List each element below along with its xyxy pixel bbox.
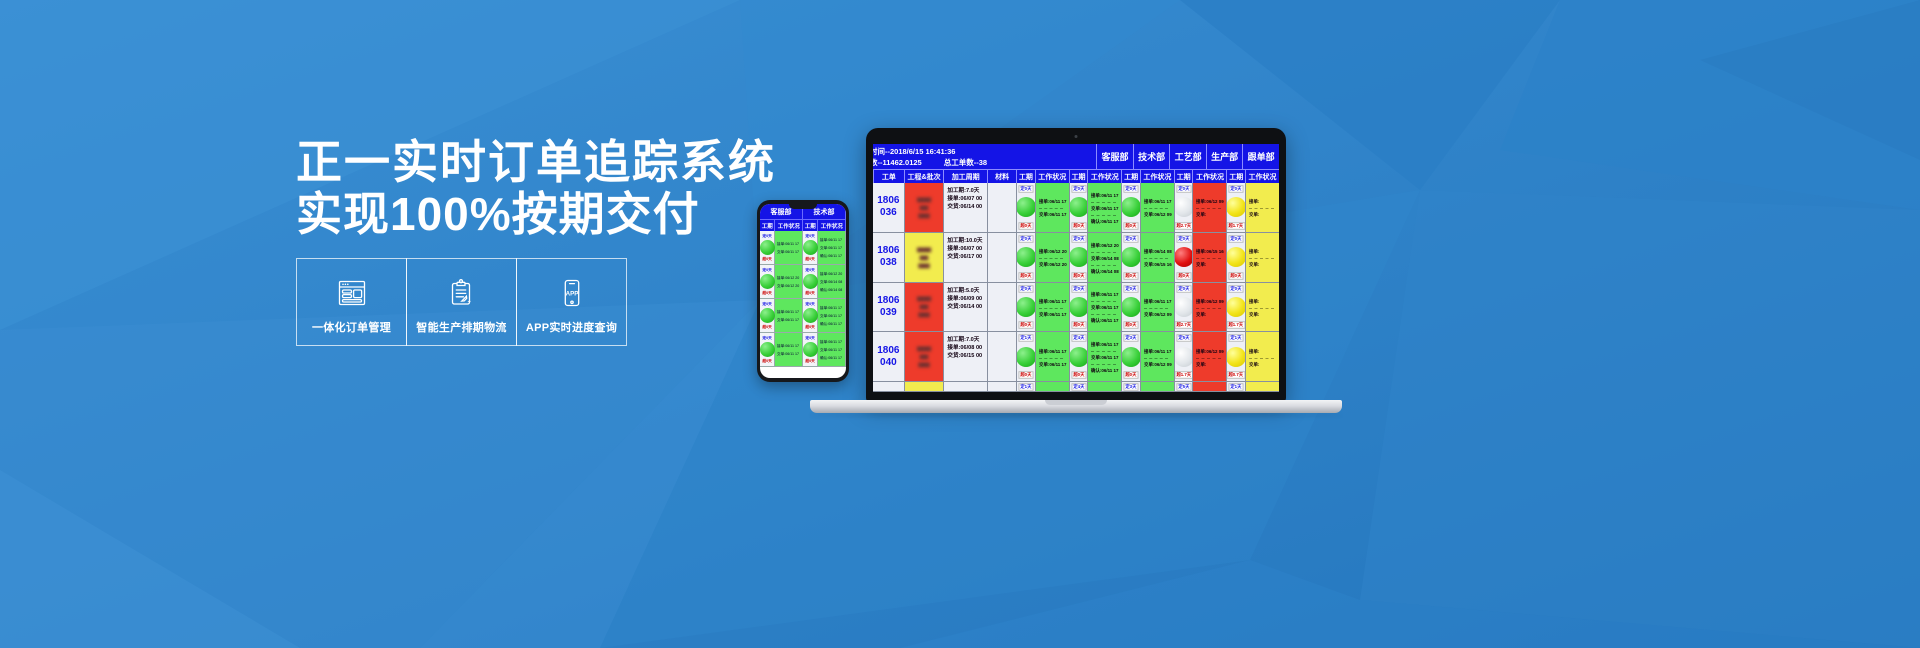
project-batch-text: █████ [917, 296, 931, 301]
dashboard-dept-header-2: 工艺部 [1169, 144, 1206, 169]
feature-card-app-progress-query[interactable]: APP APP实时进度查询 [516, 258, 627, 346]
cycle-line: 加工期:5.0天 [947, 287, 987, 295]
dashboard-top-header: 时间--2018/6/15 16:41:36 数--11462.0125 总工单… [873, 144, 1279, 169]
work-status-cell-跟单部: 接单:交单: [1245, 332, 1279, 381]
phone-row[interactable]: 定0天 超0天 接单:06/11 17交单:06/11 17 定0天 超0天 接… [760, 299, 846, 333]
dashboard-time: 时间--2018/6/15 16:41:36 [873, 146, 1096, 157]
cycle-line: 交货:06/14 00 [947, 303, 987, 311]
over-days-badge: 超0天 [1071, 371, 1086, 379]
gongqi-cell-工艺部: 定3天 超0天 [1121, 332, 1140, 381]
work-status-cell-客服部: 接单:06/12 20交单:06/12 20 [1035, 233, 1069, 282]
phone-col-status-2: 工作状况 [818, 219, 846, 231]
over-days-badge: 超1.7天 [1227, 222, 1245, 230]
phone-set-badge: 定0天 [763, 267, 772, 273]
dashboard-col-1: 工程&批次 [904, 170, 944, 183]
project-batch-cell[interactable] [904, 382, 944, 391]
dashboard-table-row[interactable]: 1806 040 █████ ███ ████ 加工期:7.0天接单:06/08… [873, 332, 1279, 382]
work-status-line: 接单:06/11 17 [1091, 193, 1119, 199]
order-number-cell[interactable]: 1806 036 [873, 183, 904, 232]
work-status-line: 交单: [1249, 362, 1277, 368]
work-status-line: 交单:06/11 17 [1039, 312, 1067, 318]
status-divider [1144, 308, 1169, 309]
order-tracking-dashboard[interactable]: 时间--2018/6/15 16:41:36 数--11462.0125 总工单… [873, 144, 1279, 392]
mobile-app-icon: APP [555, 274, 589, 312]
material-cell [987, 183, 1016, 232]
status-divider [1249, 258, 1274, 259]
dashboard-column-header: 工单工程&批次加工周期材料工期工作状况工期工作状况工期工作状况工期工作状况工期工… [873, 169, 1279, 183]
status-dot-green [1121, 297, 1140, 317]
gongqi-cell-技术部: 定0天 超0天 [1069, 233, 1088, 282]
over-days-badge: 超0天 [1176, 272, 1191, 280]
order-number-suffix: 036 [880, 207, 897, 219]
set-days-badge: 定4天 [1071, 383, 1086, 391]
project-batch-text: █████ [917, 247, 931, 252]
dashboard-meta: 时间--2018/6/15 16:41:36 数--11462.0125 总工单… [873, 144, 1096, 169]
project-batch-text: ████ [918, 312, 929, 317]
phone-set-badge: 定0天 [806, 335, 815, 341]
dashboard-count: 数--11462.0125 [873, 157, 922, 168]
set-days-badge: 定0天 [1071, 285, 1086, 293]
status-divider [1039, 208, 1064, 209]
gongqi-cell-技术部: 定4天 [1069, 382, 1088, 391]
phone-department-header: 客服部 技术部 [760, 204, 846, 219]
project-batch-text: ████ [918, 362, 929, 367]
over-days-badge: 超1.7天 [1227, 321, 1245, 329]
status-dot-green [1069, 247, 1088, 267]
project-batch-text: ████ [918, 213, 929, 218]
status-dot-green [1121, 247, 1140, 267]
set-days-badge: 定0天 [1229, 285, 1244, 293]
over-days-badge: 超0天 [1019, 371, 1034, 379]
set-days-badge: 定4天 [1071, 334, 1086, 342]
work-status-line: 确认:06/11 17 [1091, 368, 1119, 374]
feature-card-order-management[interactable]: 一体化订单管理 [296, 258, 407, 346]
phone-status-dot [760, 240, 775, 255]
project-batch-text: ████ [918, 263, 929, 268]
set-days-badge: 定1天 [1019, 334, 1034, 342]
dashboard-col-客服部-工期: 工期 [1016, 170, 1035, 183]
over-days-badge: 超0天 [1124, 321, 1139, 329]
phone-gongqi-cell: 定0天 超0天 [803, 333, 818, 366]
work-status-cell-工艺部: 接单:06/11 17交单:06/12 09 [1140, 332, 1174, 381]
phone-over-badge: 超0天 [806, 256, 815, 262]
work-status-line: 接单:06/11 17 [1039, 299, 1067, 305]
work-status-line: 确认:06/11 17 [1091, 319, 1119, 325]
work-status-cell-跟单部 [1245, 382, 1279, 391]
gongqi-cell-生产部: 定5天 超1.7天 [1174, 332, 1193, 381]
order-number-suffix: 039 [880, 307, 897, 319]
gongqi-cell-工艺部: 定0天 超0天 [1121, 183, 1140, 232]
set-days-badge: 定3天 [1124, 334, 1139, 342]
status-dot-gray [1174, 197, 1193, 217]
status-divider [1091, 265, 1116, 266]
project-batch-text: ███ [920, 354, 929, 359]
dashboard-col-生产部-工作状况: 工作状况 [1192, 170, 1226, 183]
over-days-badge: 超0天 [1071, 222, 1086, 230]
project-batch-text: ███ [920, 255, 929, 260]
app-icon-text: APP [565, 290, 578, 297]
cycle-line: 交货:06/14 00 [947, 203, 987, 211]
gongqi-cell-工艺部: 定3天 [1121, 382, 1140, 391]
work-status-cell-工艺部: 接单:06/11 17交单:06/12 09 [1140, 183, 1174, 232]
work-status-cell-生产部: 接单:06/12 09交单: [1192, 283, 1226, 332]
material-cell [987, 233, 1016, 282]
phone-gongqi-cell: 定0天 超0天 [803, 299, 818, 332]
order-number-cell[interactable] [873, 382, 904, 391]
set-days-badge: 定1天 [1019, 383, 1034, 391]
work-status-line: 交单: [1196, 362, 1224, 368]
work-status-line: 交单:06/11 17 [1039, 213, 1067, 219]
phone-gongqi-cell: 定0天 超0天 [760, 299, 775, 332]
project-batch-cell[interactable]: █████ ███ ████ [904, 283, 944, 332]
dashboard-department-header: 客服部技术部工艺部生产部跟单部 [1096, 144, 1279, 169]
phone-subheader: 工期 工作状况 工期 工作状况 [760, 219, 846, 231]
work-status-line: 交单:06/12 09 [1144, 312, 1172, 318]
set-days-badge: 定0天 [1176, 185, 1191, 193]
status-dot-green [1121, 197, 1140, 217]
work-status-line: 交单: [1249, 312, 1277, 318]
material-cell [987, 332, 1016, 381]
gongqi-cell-生产部: 定0天 超2.7天 [1174, 183, 1193, 232]
gongqi-cell-客服部: 定0天 超0天 [1016, 183, 1035, 232]
status-dot-green [1069, 347, 1088, 367]
work-status-cell-工艺部: 接单:06/14 08交单:06/15 16 [1140, 233, 1174, 282]
set-days-badge: 定5天 [1176, 383, 1191, 391]
phone-col-gongqi-2: 工期 [803, 219, 818, 231]
status-divider [1196, 358, 1221, 359]
gongqi-cell-技术部: 定4天 超0天 [1069, 332, 1088, 381]
set-days-badge: 定0天 [1071, 235, 1086, 243]
phone-set-badge: 定0天 [806, 301, 815, 307]
feature-label: APP实时进度查询 [526, 319, 617, 335]
phone-status-line: 接单:06/11 17 [777, 309, 799, 314]
status-dot-gray [1174, 347, 1193, 367]
dashboard-dept-header-1: 技术部 [1133, 144, 1170, 169]
feature-card-production-scheduling[interactable]: 智能生产排期物流 [406, 258, 517, 346]
over-days-badge: 超0天 [1019, 321, 1034, 329]
cycle-line: 接单:06/09 00 [947, 295, 987, 303]
set-days-badge: 定0天 [1229, 185, 1244, 193]
status-dot-yellow [1226, 297, 1245, 317]
over-days-badge: 超2.7天 [1174, 321, 1192, 329]
phone-status-dot [760, 308, 775, 323]
set-days-badge: 定0天 [1019, 285, 1034, 293]
order-number-prefix: 1806 [877, 245, 899, 257]
set-days-badge: 定5天 [1176, 334, 1191, 342]
status-dot-green [1069, 297, 1088, 317]
work-status-cell-跟单部: 接单:交单: [1245, 283, 1279, 332]
dashboard-counts: 数--11462.0125 总工单数--38 [873, 157, 1096, 168]
work-status-line: 交单: [1196, 262, 1224, 268]
phone-gongqi-cell: 定0天 超0天 [760, 231, 775, 264]
phone-dept-kefu: 客服部 [760, 204, 803, 219]
phone-status-line: 交单:06/14 08 [820, 279, 842, 284]
work-status-cell-技术部: 接单:06/11 17交单:06/11 17确认:06/11 17 [1087, 183, 1121, 232]
over-days-badge: 超0天 [1124, 222, 1139, 230]
set-days-badge: 定1天 [1229, 383, 1244, 391]
phone-status-line: 确认:06/11 17 [820, 253, 842, 258]
set-days-badge: 定0天 [1019, 235, 1034, 243]
work-status-line: 交单: [1196, 213, 1224, 219]
work-status-line: 交单:06/12 09 [1144, 213, 1172, 219]
status-dot-green [1069, 197, 1088, 217]
phone-row[interactable]: 定0天 超0天 接单:06/11 17交单:06/11 17 定0天 超0天 接… [760, 333, 846, 367]
dashboard-col-工艺部-工作状况: 工作状况 [1140, 170, 1174, 183]
work-status-line: 接单:06/12 09 [1196, 299, 1224, 305]
laptop-base-shadow [810, 413, 1342, 417]
work-status-line: 确认:06/14 08 [1091, 269, 1119, 275]
phone-dept-jishu: 技术部 [803, 204, 846, 219]
status-dot-gray [1174, 297, 1193, 317]
laptop-lid: 时间--2018/6/15 16:41:36 数--11462.0125 总工单… [866, 128, 1286, 402]
work-status-cell-生产部: 接单:06/15 16交单: [1192, 233, 1226, 282]
work-status-cell-工艺部: 接单:06/11 17交单:06/12 09 [1140, 283, 1174, 332]
phone-status-line: 交单:06/11 17 [777, 351, 799, 356]
status-dot-green [1016, 347, 1035, 367]
feature-list: 一体化订单管理 智能生产排期物流 APP [296, 258, 626, 346]
work-status-cell-生产部: 接单:06/12 09交单: [1192, 332, 1226, 381]
work-status-cell-客服部: 接单:06/11 17交单:06/11 17 [1035, 183, 1069, 232]
phone-gongqi-cell: 定0天 超0天 [760, 265, 775, 298]
over-days-badge: 超0天 [1071, 321, 1086, 329]
cycle-line: 加工期:7.0天 [947, 336, 987, 344]
processing-cycle-cell: 加工期:7.0天接单:06/07 00交货:06/14 00 [943, 183, 987, 232]
work-status-line: 交单: [1249, 213, 1277, 219]
laptop-screen[interactable]: 时间--2018/6/15 16:41:36 数--11462.0125 总工单… [873, 144, 1279, 392]
status-divider [1091, 215, 1116, 216]
phone-status-line: 交单:06/11 17 [777, 317, 799, 322]
over-days-badge: 超0天 [1124, 371, 1139, 379]
order-number-prefix: 1806 [877, 195, 899, 207]
dashboard-col-工艺部-工期: 工期 [1121, 170, 1140, 183]
over-days-badge: 超0天 [1019, 272, 1034, 280]
status-divider [1144, 258, 1169, 259]
gongqi-cell-生产部: 定0天 超0天 [1174, 233, 1193, 282]
status-divider [1196, 208, 1221, 209]
dashboard-row-list[interactable]: 1806 036 █████ ███ ████ 加工期:7.0天接单:06/07… [873, 183, 1279, 392]
work-status-line: 交单:06/12 20 [1039, 262, 1067, 268]
cycle-line: 加工期:10.0天 [947, 237, 987, 245]
gongqi-cell-客服部: 定1天 超0天 [1016, 332, 1035, 381]
webcam-icon [1075, 135, 1078, 138]
processing-cycle-cell: 加工期:7.0天接单:06/08 00交货:06/15 00 [943, 332, 987, 381]
status-dot-green [1016, 247, 1035, 267]
dashboard-col-跟单部-工作状况: 工作状况 [1245, 170, 1279, 183]
work-status-cell-技术部: 接单:06/12 20交单:06/14 08确认:06/14 08 [1087, 233, 1121, 282]
dashboard-dept-header-0: 客服部 [1096, 144, 1133, 169]
project-batch-cell[interactable]: █████ ███ ████ [904, 332, 944, 381]
work-status-line: 接单:06/11 17 [1091, 293, 1119, 299]
gongqi-cell-生产部: 定0天 超2.7天 [1174, 283, 1193, 332]
cycle-line: 接单:06/08 00 [947, 344, 987, 352]
order-number-prefix: 1806 [877, 345, 899, 357]
status-dot-yellow [1226, 247, 1245, 267]
set-days-badge: 定0天 [1176, 235, 1191, 243]
status-dot-green [1016, 297, 1035, 317]
work-status-line: 接单:06/11 17 [1144, 349, 1172, 355]
set-days-badge: 定0天 [1124, 235, 1139, 243]
cycle-line: 交货:06/15 00 [947, 352, 987, 360]
order-number-cell[interactable]: 1806 039 [873, 283, 904, 332]
phone-status-dot [760, 342, 775, 357]
work-status-line: 接单:06/12 20 [1091, 243, 1119, 249]
project-batch-text: █████ [917, 346, 931, 351]
work-status-line: 接单:06/14 08 [1144, 249, 1172, 255]
work-status-line: 接单:06/11 17 [1091, 342, 1119, 348]
dashboard-table-row[interactable]: 1806 039 █████ ███ ████ 加工期:5.0天接单:06/09… [873, 283, 1279, 333]
gongqi-cell-跟单部: 定1天 [1226, 382, 1245, 391]
order-number-prefix: 1806 [877, 295, 899, 307]
phone-status-line: 交单:06/11 17 [777, 249, 799, 254]
work-status-line: 确认:06/11 17 [1091, 219, 1119, 225]
work-status-cell-客服部 [1035, 382, 1069, 391]
gongqi-cell-客服部: 定0天 超0天 [1016, 283, 1035, 332]
work-status-line: 接单:06/12 09 [1196, 200, 1224, 206]
phone-status-cell: 接单:06/11 17交单:06/11 17 [775, 231, 803, 264]
set-days-badge: 定0天 [1124, 285, 1139, 293]
gongqi-cell-工艺部: 定0天 超0天 [1121, 283, 1140, 332]
phone-status-line: 交单:06/11 17 [820, 347, 842, 352]
phone-over-badge: 超0天 [763, 256, 772, 262]
work-status-cell-生产部: 接单:06/12 09交单: [1192, 183, 1226, 232]
phone-status-line: 确认:06/11 17 [820, 321, 842, 326]
dashboard-table-row[interactable]: 1806 038 █████ ███ ████ 加工期:10.0天接单:06/0… [873, 233, 1279, 283]
phone-row-list[interactable]: 定0天 超0天 接单:06/11 17交单:06/11 17 定0天 超0天 接… [760, 231, 846, 378]
work-status-line: 接单: [1249, 299, 1277, 305]
status-divider [1196, 308, 1221, 309]
work-status-line: 交单:06/15 16 [1144, 262, 1172, 268]
set-days-badge: 定0天 [1124, 185, 1139, 193]
status-divider [1039, 308, 1064, 309]
phone-status-line: 接单:06/11 17 [777, 241, 799, 246]
work-status-cell-客服部: 接单:06/11 17交单:06/11 17 [1035, 283, 1069, 332]
work-status-line: 接单:06/15 16 [1196, 249, 1224, 255]
processing-cycle-cell [943, 382, 987, 391]
dashboard-table-row-partial[interactable]: 定1天 定4天 定3天 定5天 定1天 [873, 382, 1279, 392]
work-status-line: 交单:06/11 17 [1091, 355, 1119, 361]
project-batch-cell[interactable]: █████ ███ ████ [904, 233, 944, 282]
gongqi-cell-跟单部: 定1天 超0.7天 [1226, 332, 1245, 381]
phone-over-badge: 超0天 [806, 324, 815, 330]
set-days-badge: 定0天 [1176, 285, 1191, 293]
project-batch-cell[interactable]: █████ ███ ████ [904, 183, 944, 232]
set-days-badge: 定0天 [1229, 235, 1244, 243]
processing-cycle-cell: 加工期:10.0天接单:06/07 00交货:06/17 00 [943, 233, 987, 282]
work-status-line: 交单:06/11 17 [1039, 362, 1067, 368]
status-dot-yellow [1226, 347, 1245, 367]
order-number-cell[interactable]: 1806 040 [873, 332, 904, 381]
phone-status-cell: 接单:06/11 17交单:06/11 17确认:06/11 17 [818, 231, 846, 264]
dashboard-col-技术部-工作状况: 工作状况 [1087, 170, 1121, 183]
phone-status-line: 接单:06/12 20 [777, 275, 799, 280]
dashboard-dept-header-4: 跟单部 [1242, 144, 1279, 169]
gongqi-cell-技术部: 定0天 超0天 [1069, 283, 1088, 332]
cycle-line: 交货:06/17 00 [947, 253, 987, 261]
phone-status-line: 接单:06/11 17 [820, 237, 842, 242]
phone-status-dot [760, 274, 775, 289]
phone-row[interactable]: 定0天 超0天 接单:06/11 17交单:06/11 17 定0天 超0天 接… [760, 231, 846, 265]
over-days-badge: 超0天 [1124, 272, 1139, 280]
over-days-badge: 超1.7天 [1174, 371, 1192, 379]
material-cell [987, 283, 1016, 332]
phone-set-badge: 定0天 [806, 267, 815, 273]
processing-cycle-cell: 加工期:5.0天接单:06/09 00交货:06/14 00 [943, 283, 987, 332]
project-batch-text: ███ [920, 304, 929, 309]
over-days-badge: 超0天 [1019, 222, 1034, 230]
dashboard-col-技术部-工期: 工期 [1069, 170, 1088, 183]
phone-status-line: 接单:06/12 20 [820, 271, 842, 276]
work-status-line: 交单: [1249, 262, 1277, 268]
cycle-line: 接单:06/07 00 [947, 195, 987, 203]
dashboard-total-orders: 总工单数--38 [944, 157, 987, 168]
dashboard-col-2: 加工周期 [943, 170, 987, 183]
work-status-line: 接单:06/11 17 [1144, 299, 1172, 305]
phone-gongqi-cell: 定0天 超0天 [803, 265, 818, 298]
phone-row[interactable]: 定0天 超0天 接单:06/12 20交单:06/12 20 定0天 超0天 接… [760, 265, 846, 299]
laptop-base [810, 400, 1342, 413]
over-days-badge: 超0天 [1229, 272, 1244, 280]
work-status-line: 交单: [1196, 312, 1224, 318]
status-divider [1039, 358, 1064, 359]
work-status-cell-技术部 [1087, 382, 1121, 391]
work-status-cell-技术部: 接单:06/11 17交单:06/11 17确认:06/11 17 [1087, 283, 1121, 332]
status-divider [1144, 358, 1169, 359]
cycle-line: 加工期:7.0天 [947, 187, 987, 195]
set-days-badge: 定1天 [1229, 334, 1244, 342]
gongqi-cell-工艺部: 定0天 超0天 [1121, 233, 1140, 282]
gongqi-cell-技术部: 定0天 超0天 [1069, 183, 1088, 232]
set-days-badge: 定0天 [1071, 185, 1086, 193]
phone-set-badge: 定0天 [763, 335, 772, 341]
gongqi-cell-跟单部: 定0天 超1.7天 [1226, 183, 1245, 232]
phone-status-line: 接单:06/11 17 [777, 343, 799, 348]
cycle-line: 接单:06/07 00 [947, 245, 987, 253]
order-number-cell[interactable]: 1806 038 [873, 233, 904, 282]
work-status-line: 交单:06/14 08 [1091, 256, 1119, 262]
status-divider [1196, 258, 1221, 259]
work-status-line: 接单:06/12 09 [1196, 349, 1224, 355]
feature-label: 智能生产排期物流 [416, 319, 506, 335]
work-status-cell-生产部 [1192, 382, 1226, 391]
dashboard-col-生产部-工期: 工期 [1174, 170, 1193, 183]
status-divider [1249, 308, 1274, 309]
status-divider [1249, 208, 1274, 209]
gongqi-cell-跟单部: 定0天 超0天 [1226, 233, 1245, 282]
work-status-line: 交单:06/11 17 [1091, 206, 1119, 212]
status-dot-green [1121, 347, 1140, 367]
phone-status-line: 交单:06/11 17 [820, 245, 842, 250]
status-dot-yellow [1226, 197, 1245, 217]
phone-status-line: 接单:06/11 17 [820, 339, 842, 344]
gongqi-cell-客服部: 定0天 超0天 [1016, 233, 1035, 282]
gongqi-cell-跟单部: 定0天 超1.7天 [1226, 283, 1245, 332]
dashboard-table-row[interactable]: 1806 036 █████ ███ ████ 加工期:7.0天接单:06/07… [873, 183, 1279, 233]
phone-status-cell: 接单:06/11 17交单:06/11 17确认:06/11 17 [818, 299, 846, 332]
status-divider [1091, 351, 1116, 352]
phone-status-line: 交单:06/11 17 [820, 313, 842, 318]
order-number-suffix: 040 [880, 357, 897, 369]
phone-screen[interactable]: 客服部 技术部 工期 工作状况 工期 工作状况 定0天 超0天 接单:06/11… [760, 204, 846, 378]
dashboard-col-0: 工单 [873, 170, 904, 183]
dashboard-col-跟单部-工期: 工期 [1226, 170, 1245, 183]
status-divider [1039, 258, 1064, 259]
phone-col-status-1: 工作状况 [775, 219, 803, 231]
work-status-line: 接单:06/11 17 [1039, 200, 1067, 206]
project-batch-text: █████ [917, 197, 931, 202]
phone-set-badge: 定0天 [806, 233, 815, 239]
work-status-cell-技术部: 接单:06/11 17交单:06/11 17确认:06/11 17 [1087, 332, 1121, 381]
status-dot-green [1016, 197, 1035, 217]
